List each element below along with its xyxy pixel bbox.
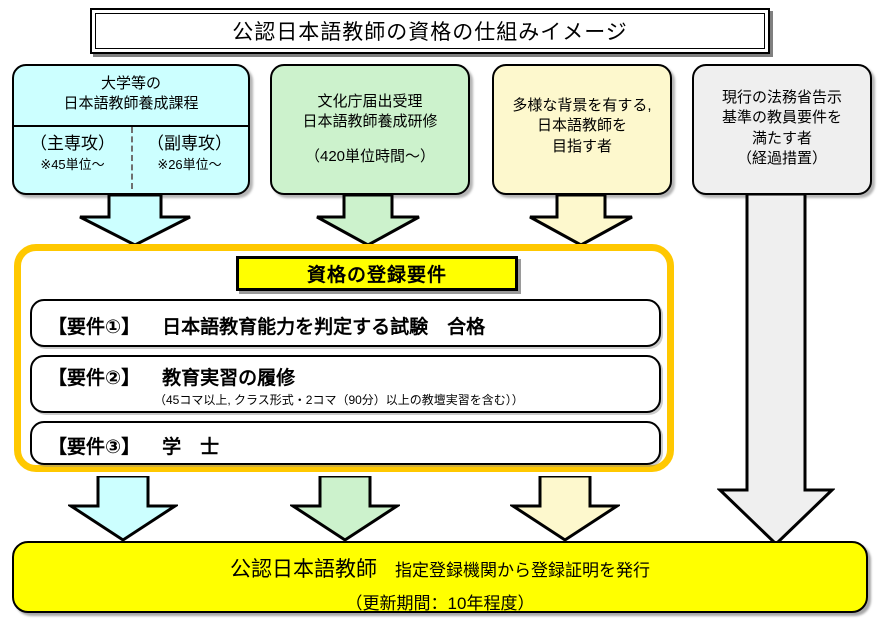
result-primary-line: 公認日本語教師指定登録機関から登録証明を発行 — [14, 543, 866, 583]
moj-line-4: （経過措置） — [694, 149, 870, 169]
requirement-2-line: 【要件②】 教育実習の履修 — [32, 357, 659, 390]
university-column-sub-major: （副専攻） ※26単位～ — [131, 129, 248, 174]
requirement-1-tag: 【要件①】 — [48, 312, 140, 339]
bunkacho-line-1: 文化庁届出受理 — [272, 92, 468, 112]
source-box-university-heading: 大学等の 日本語教師養成課程 — [14, 66, 248, 114]
sub-major-units: ※26単位～ — [131, 156, 248, 174]
requirement-1-text: 日本語教育能力を判定する試験 合格 — [140, 312, 485, 339]
arrow-requirements-to-result-2 — [290, 476, 400, 542]
source-box-university-course: 大学等の 日本語教師養成課程 （主専攻） ※45単位～ （副専攻） ※26単位～ — [12, 64, 250, 195]
sub-major-label: （副専攻） — [131, 129, 248, 156]
diverse-line-1: 多様な背景を有する, — [494, 96, 670, 116]
requirement-item-3: 【要件③】 学 士 — [30, 421, 661, 465]
requirement-3-tag: 【要件③】 — [48, 432, 140, 459]
result-subtitle: 指定登録機関から登録証明を発行 — [377, 561, 650, 580]
requirement-3-text: 学 士 — [140, 432, 219, 459]
diagram-title-inner: 公認日本語教師の資格の仕組みイメージ — [95, 13, 765, 49]
requirements-container: 資格の登録要件 【要件①】 日本語教育能力を判定する試験 合格 【要件②】 教育… — [14, 244, 674, 472]
main-major-units: ※45単位～ — [14, 156, 131, 174]
requirement-2-note: （45コマ以上, クラス形式・2コマ（90分）以上の教壇実習を含む）） — [32, 390, 659, 408]
requirement-1-line: 【要件①】 日本語教育能力を判定する試験 合格 — [32, 301, 659, 339]
arrow-training-to-requirements — [315, 195, 421, 247]
bunkacho-hours-note: （420単位時間～） — [272, 133, 468, 166]
bunkacho-line-2: 日本語教師養成研修 — [272, 112, 468, 132]
arrow-requirements-to-result-1 — [68, 476, 178, 542]
page-title: 公認日本語教師の資格の仕組みイメージ — [232, 16, 628, 46]
result-box-certified-teacher: 公認日本語教師指定登録機関から登録証明を発行 （更新期間：10年程度） — [12, 541, 868, 613]
requirements-header-label: 資格の登録要件 — [307, 260, 447, 287]
requirement-item-2: 【要件②】 教育実習の履修 （45コマ以上, クラス形式・2コマ（90分）以上の… — [30, 355, 661, 413]
requirements-header-badge: 資格の登録要件 — [236, 256, 518, 291]
university-column-main-major: （主専攻） ※45単位～ — [14, 129, 131, 174]
main-major-label: （主専攻） — [14, 129, 131, 156]
diverse-line-2: 日本語教師を — [494, 116, 670, 136]
arrow-moj-bypass-to-result — [717, 194, 835, 546]
source-box-current-moj-standard: 現行の法務省告示 基準の教員要件を 満たす者 （経過措置） — [692, 64, 872, 195]
arrow-university-to-requirements — [78, 195, 192, 247]
requirement-2-tag: 【要件②】 — [48, 363, 140, 390]
requirement-item-1: 【要件①】 日本語教育能力を判定する試験 合格 — [30, 299, 661, 347]
diagram-title-frame: 公認日本語教師の資格の仕組みイメージ — [90, 8, 770, 54]
bunkacho-training-body: 文化庁届出受理 日本語教師養成研修 — [272, 66, 468, 133]
arrow-requirements-to-result-3 — [510, 476, 620, 542]
result-renewal-note: （更新期間：10年程度） — [14, 583, 866, 614]
moj-line-2: 基準の教員要件を — [694, 108, 870, 128]
moj-line-1: 現行の法務省告示 — [694, 88, 870, 108]
source-box-bunkacho-training: 文化庁届出受理 日本語教師養成研修 （420単位時間～） — [270, 64, 470, 195]
moj-line-3: 満たす者 — [694, 129, 870, 149]
university-heading-line-2: 日本語教師養成課程 — [14, 94, 248, 114]
moj-standard-body: 現行の法務省告示 基準の教員要件を 満たす者 （経過措置） — [694, 66, 870, 170]
source-box-diverse-background: 多様な背景を有する, 日本語教師を 目指す者 — [492, 64, 672, 195]
result-title: 公認日本語教師 — [230, 558, 377, 581]
university-heading-line-1: 大学等の — [14, 74, 248, 94]
diverse-background-body: 多様な背景を有する, 日本語教師を 目指す者 — [494, 66, 670, 157]
requirement-2-text: 教育実習の履修 — [140, 363, 295, 390]
requirement-3-line: 【要件③】 学 士 — [32, 423, 659, 459]
arrow-diverse-to-requirements — [528, 195, 634, 247]
diverse-line-3: 目指す者 — [494, 137, 670, 157]
university-major-columns: （主専攻） ※45単位～ （副専攻） ※26単位～ — [14, 129, 248, 174]
